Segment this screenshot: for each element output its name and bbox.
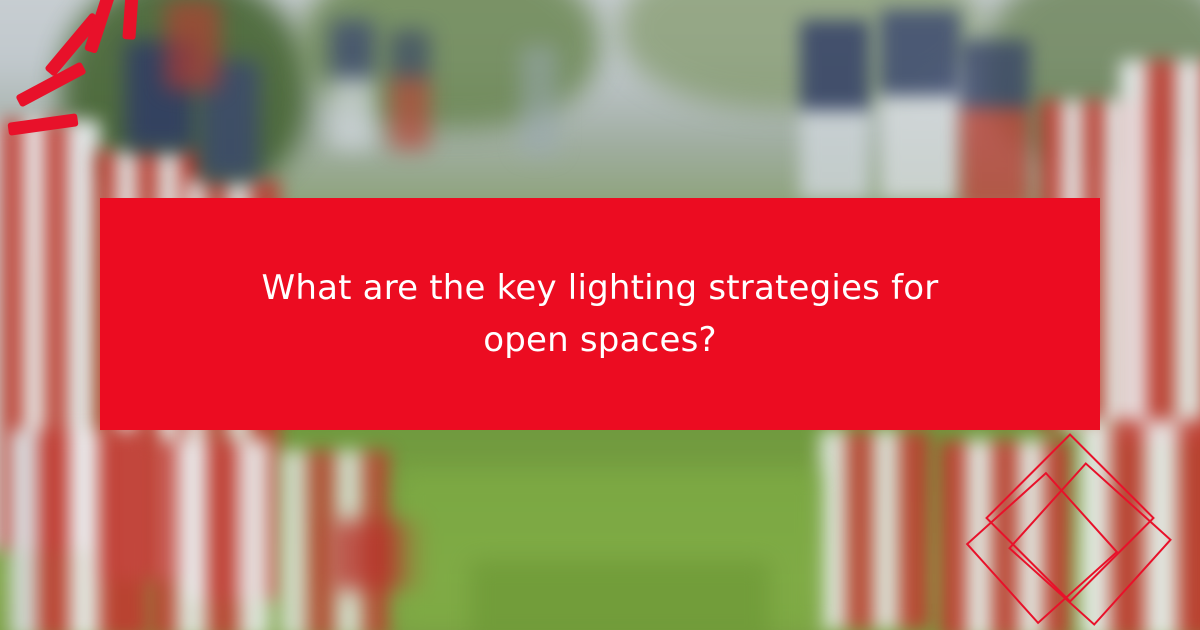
flag-right-5 [1120,60,1200,440]
title-banner: What are the key lighting strategies for… [100,198,1100,430]
flag-right-1 [800,20,870,200]
red-diamond-outlines [970,422,1180,622]
red-burst-mark [0,0,190,175]
flag-foreground-left [10,430,150,630]
flag-right-2 [880,10,960,200]
screenshot-canvas: What are the key lighting strategies for… [0,0,1200,630]
flag-center-3 [520,45,558,155]
flag-right-3 [960,40,1030,210]
flag-center-1 [330,20,375,150]
flag-center-2 [390,30,430,150]
burst-ray-5 [122,0,139,40]
flag-foreground-right [820,430,930,630]
page-title: What are the key lighting strategies for… [220,262,980,366]
flag-foreground-left-2 [150,440,270,630]
burst-ray-1 [7,113,78,136]
grass-highlight-2 [470,560,770,630]
